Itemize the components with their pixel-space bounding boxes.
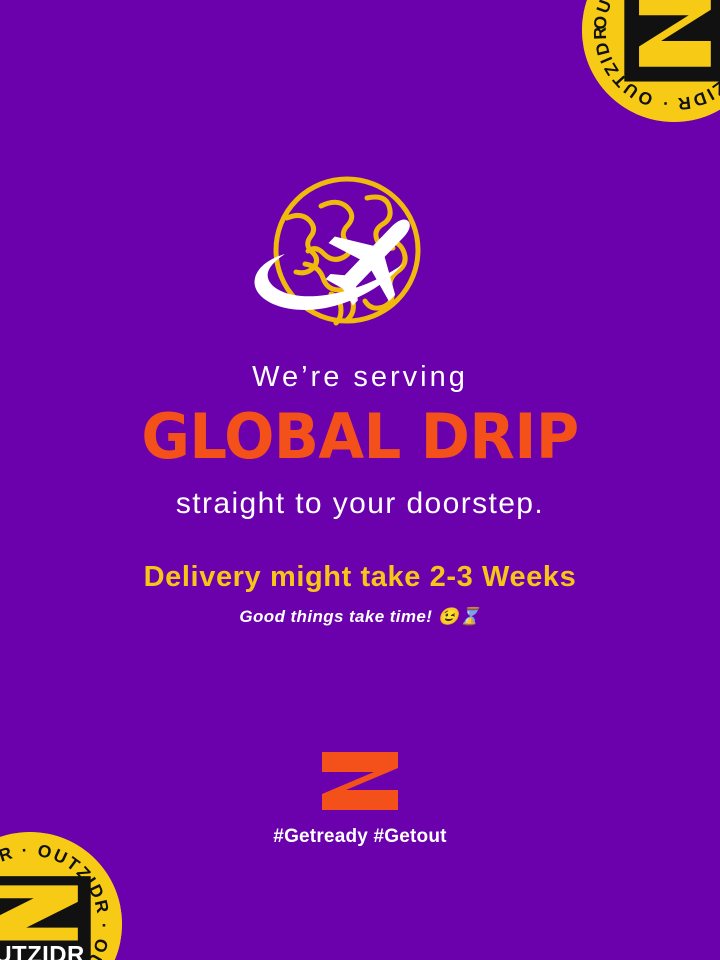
tagline-text: Good things take time! 😉⌛ <box>0 608 720 626</box>
outzidr-badge-bottom-left: OUTZIDR · OUTZIDR · OUTZIDR · OUTZIDR OU… <box>0 832 122 960</box>
poster-canvas: OUTZIDR · OUTZIDR · OUTZIDR · OUTZIDR <box>0 0 720 960</box>
headline-text: GLOBAL DRIP <box>0 406 720 468</box>
globe-airplane-illustration <box>235 168 485 348</box>
badge-wordmark: OUTZIDR <box>0 942 85 960</box>
subline-text: straight to your doorstep. <box>0 488 720 520</box>
outzidr-badge-top-right: OUTZIDR · OUTZIDR · OUTZIDR · OUTZIDR <box>582 0 720 122</box>
eyebrow-text: We’re serving <box>0 362 720 392</box>
copy-block: We’re serving GLOBAL DRIP straight to yo… <box>0 362 720 626</box>
z-logo-icon <box>320 750 400 812</box>
delivery-estimate-text: Delivery might take 2-3 Weeks <box>0 562 720 592</box>
